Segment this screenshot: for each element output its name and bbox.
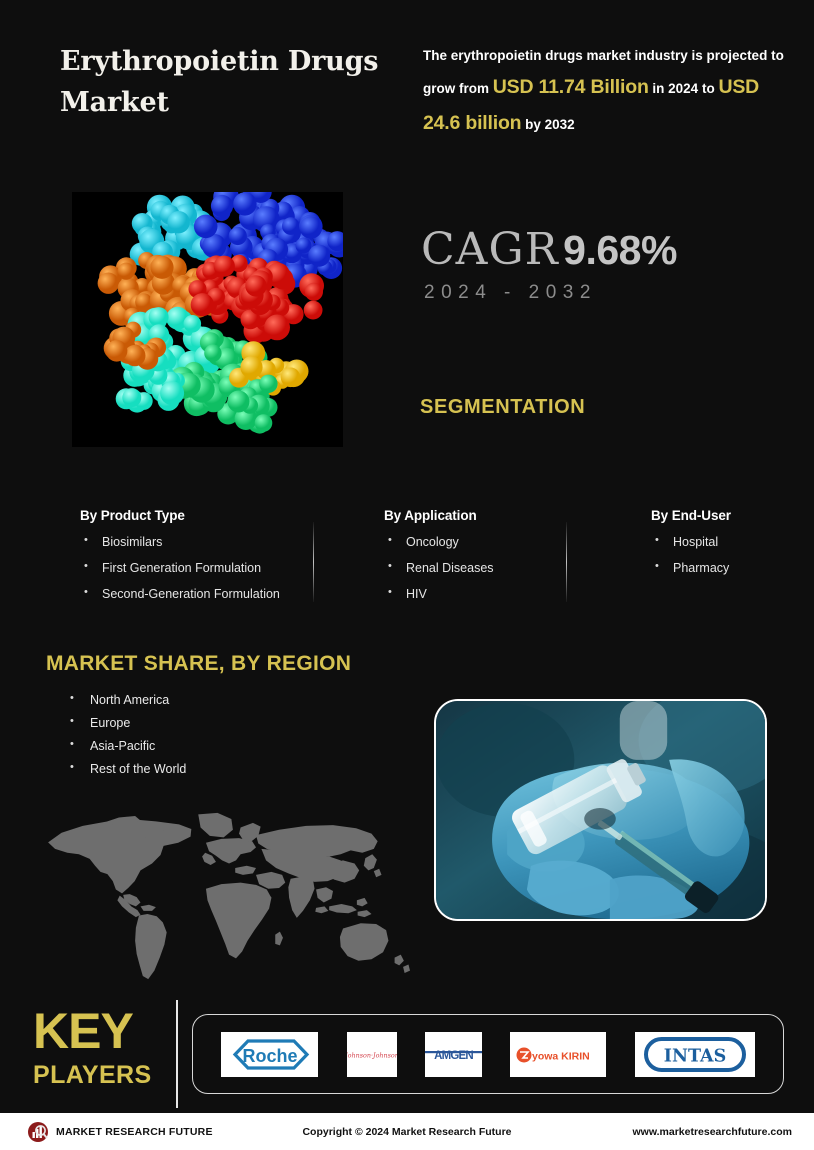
list-item: Europe: [66, 717, 186, 730]
segment-title: By End-User: [651, 508, 731, 523]
list-item: Asia-Pacific: [66, 740, 186, 753]
segmentation-column-end-user: By End-User Hospital Pharmacy: [651, 508, 731, 588]
list-item: First Generation Formulation: [80, 562, 280, 575]
logo-intas[interactable]: INTAS: [635, 1032, 755, 1077]
market-share-heading: MARKET SHARE, BY REGION: [46, 652, 351, 676]
logo-jnj-text: Johnson·Johnson: [347, 1051, 397, 1059]
list-item: Renal Diseases: [384, 562, 494, 575]
list-item: Rest of the World: [66, 763, 186, 776]
segmentation-divider: [566, 522, 567, 602]
intro-paragraph: The erythropoietin drugs market industry…: [423, 44, 788, 141]
list-item: Pharmacy: [651, 562, 731, 575]
key-players-logo-box: Roche Johnson·Johnson AMGEN yowa KIRIN: [192, 1014, 784, 1094]
segment-title: By Application: [384, 508, 494, 523]
intro-line-1: The erythropoietin drugs market industry…: [423, 48, 767, 63]
logo-kyowa-text: yowa KIRIN: [532, 1050, 590, 1062]
logo-roche-text: Roche: [243, 1046, 298, 1066]
cagr-block: CAGR 9.68%: [421, 224, 677, 275]
segmentation-column-application: By Application Oncology Renal Diseases H…: [384, 508, 494, 614]
infographic-page: Erythropoietin Drugs Market The erythrop…: [0, 0, 814, 1150]
cagr-period: 2024 - 2032: [424, 282, 597, 304]
page-title: Erythropoietin Drugs Market: [60, 42, 405, 123]
key-players-label-line2: PLAYERS: [33, 1063, 152, 1088]
logo-intas-text: INTAS: [664, 1046, 726, 1066]
logo-amgen-text: AMGEN: [434, 1050, 473, 1062]
molecule-image: [72, 192, 343, 447]
key-players-divider: [176, 1000, 178, 1108]
segment-list: Biosimilars First Generation Formulation…: [80, 536, 280, 601]
footer-website-url[interactable]: www.marketresearchfuture.com: [632, 1126, 792, 1138]
segment-list: Hospital Pharmacy: [651, 536, 731, 575]
segment-list: Oncology Renal Diseases HIV: [384, 536, 494, 601]
logo-johnson-and-johnson[interactable]: Johnson·Johnson: [347, 1032, 397, 1077]
list-item: HIV: [384, 588, 494, 601]
segmentation-column-product-type: By Product Type Biosimilars First Genera…: [80, 508, 280, 614]
logo-amgen[interactable]: AMGEN: [425, 1032, 482, 1077]
list-item: North America: [66, 694, 186, 707]
logo-kyowa-kirin[interactable]: yowa KIRIN: [510, 1032, 606, 1077]
list-item: Oncology: [384, 536, 494, 549]
list-item: Biosimilars: [80, 536, 280, 549]
intro-line-3-suffix: by 2032: [521, 117, 574, 132]
segmentation-heading: SEGMENTATION: [420, 396, 585, 419]
cagr-label: CAGR: [421, 224, 559, 275]
cagr-value: 9.68%: [563, 227, 677, 273]
list-item: Second-Generation Formulation: [80, 588, 280, 601]
market-share-region-list: North America Europe Asia-Pacific Rest o…: [66, 694, 186, 786]
syringe-photo: [434, 699, 767, 921]
value-2024: USD 11.74 Billion: [493, 76, 649, 98]
segment-title: By Product Type: [80, 508, 280, 523]
footer-bar: MARKET RESEARCH FUTURE Copyright © 2024 …: [0, 1113, 814, 1150]
intro-line-3-prefix: to: [702, 81, 719, 96]
segmentation-divider: [313, 522, 314, 602]
intro-line-2-suffix: in 2024: [649, 81, 699, 96]
key-players-label-line1: KEY: [33, 1008, 133, 1054]
logo-roche[interactable]: Roche: [221, 1032, 318, 1077]
list-item: Hospital: [651, 536, 731, 549]
world-map-image: [25, 806, 410, 986]
